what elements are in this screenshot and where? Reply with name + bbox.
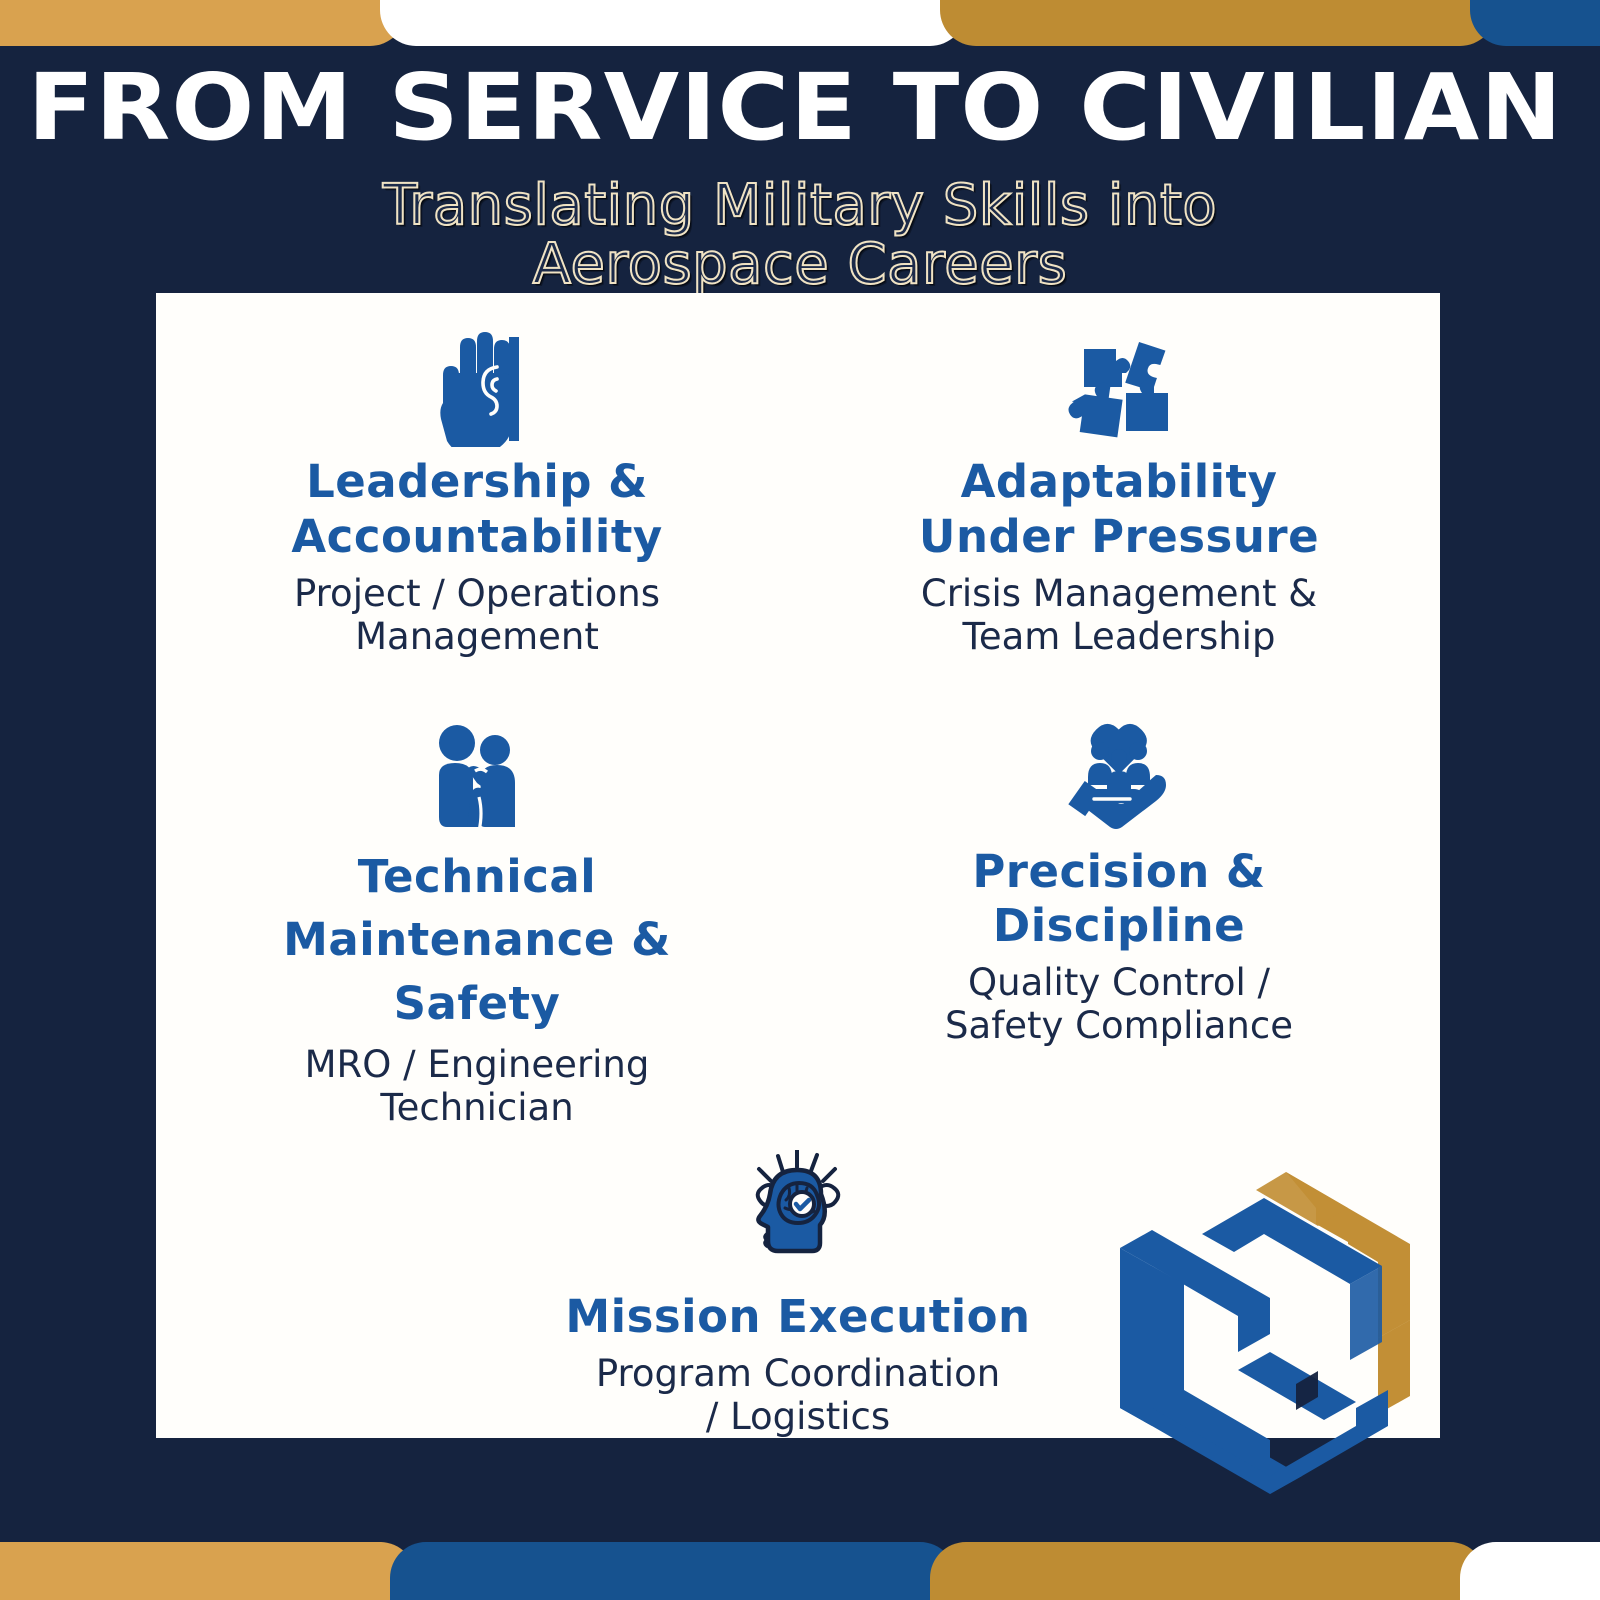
bottom-band-segment-white [1460, 1542, 1600, 1600]
skill-card-title-line-2: Under Pressure [919, 510, 1319, 563]
head-brain-checkmark-icon [208, 1164, 1388, 1282]
header-block: FROM SERVICE TO CIVILIAN Translating Mil… [0, 62, 1600, 295]
skill-card-subtitle-line-2: Management [355, 615, 599, 658]
two-people-support-icon [208, 719, 746, 837]
skill-card-adaptability-under-pressure[interactable]: Adaptability Under Pressure Crisis Manag… [798, 321, 1440, 659]
page-title: FROM SERVICE TO CIVILIAN [0, 62, 1600, 154]
skill-card-title-line-1: Adaptability [961, 455, 1278, 508]
skill-card-title-line-2: Maintenance & [283, 913, 671, 966]
skill-card-title: Precision & Discipline [850, 845, 1388, 955]
skill-card-title-line-1: Technical [358, 850, 596, 903]
skill-card-subtitle: Quality Control / Safety Compliance [850, 962, 1388, 1048]
skill-card-subtitle-line-1: Quality Control / [968, 961, 1270, 1004]
skill-card-subtitle: Crisis Management & Team Leadership [850, 573, 1388, 659]
skill-card-precision-discipline[interactable]: Precision & Discipline Quality Control /… [798, 659, 1440, 1130]
skill-card-title-line-2: Discipline [993, 899, 1245, 952]
skill-card-title: Technical Maintenance & Safety [208, 845, 746, 1037]
skill-card-title-line-2: Accountability [291, 510, 662, 563]
skill-card-title-line-1: Leadership & [306, 455, 648, 508]
bottom-band-segment-gold-dark [930, 1542, 1486, 1600]
skill-card-subtitle-line-2: Team Leadership [963, 615, 1276, 658]
top-band-segment-blue [1470, 0, 1600, 46]
skill-card-title-line-1: Mission Execution [565, 1290, 1030, 1343]
hand-to-ear-listening-icon [208, 329, 746, 447]
puzzle-pieces-icon [850, 329, 1388, 447]
page-subtitle-line-1: Translating Military Skills into [0, 176, 1600, 235]
skill-card-title-line-1: Precision & [972, 845, 1265, 898]
skill-card-subtitle: Project / Operations Management [208, 573, 746, 659]
skill-card-title: Adaptability Under Pressure [850, 455, 1388, 565]
page-subtitle: Translating Military Skills into Aerospa… [0, 176, 1600, 295]
skill-card-title: Mission Execution [208, 1290, 1388, 1345]
skill-card-technical-maintenance-safety[interactable]: Technical Maintenance & Safety MRO / Eng… [156, 659, 798, 1130]
skill-card-subtitle-line-2: Safety Compliance [945, 1004, 1293, 1047]
bottom-band-segment-blue [390, 1542, 956, 1600]
page-subtitle-line-2: Aerospace Careers [0, 235, 1600, 294]
hand-holding-people-heart-icon [850, 719, 1388, 837]
skill-card-leadership-accountability[interactable]: Leadership & Accountability Project / Op… [156, 321, 798, 659]
skill-card-subtitle-line-1: Crisis Management & [921, 572, 1317, 615]
top-band-segment-gold-dark [940, 0, 1496, 46]
skill-card-subtitle: MRO / Engineering Technician [208, 1044, 746, 1130]
top-band-segment-gold-light [0, 0, 406, 46]
skill-card-title: Leadership & Accountability [208, 455, 746, 565]
infographic-poster: FROM SERVICE TO CIVILIAN Translating Mil… [0, 0, 1600, 1600]
top-decorative-band [0, 0, 1600, 46]
bottom-decorative-band [0, 1542, 1600, 1600]
skill-card-title-line-3: Safety [394, 977, 561, 1030]
skill-card-subtitle-line-1: MRO / Engineering [305, 1043, 650, 1086]
bottom-band-segment-gold-light [0, 1542, 416, 1600]
top-band-segment-white [380, 0, 966, 46]
skill-card-subtitle-line-1: Program Coordination [596, 1352, 1000, 1395]
skill-card-mission-execution[interactable]: Mission Execution Program Coordination /… [156, 1130, 1440, 1439]
skills-grid: Leadership & Accountability Project / Op… [156, 321, 1440, 1439]
skill-card-subtitle-line-2: Technician [380, 1086, 573, 1129]
content-panel: Leadership & Accountability Project / Op… [156, 293, 1440, 1438]
skill-card-subtitle: Program Coordination / Logistics [208, 1353, 1388, 1439]
skill-card-subtitle-line-2: / Logistics [706, 1395, 890, 1438]
skill-card-subtitle-line-1: Project / Operations [294, 572, 660, 615]
